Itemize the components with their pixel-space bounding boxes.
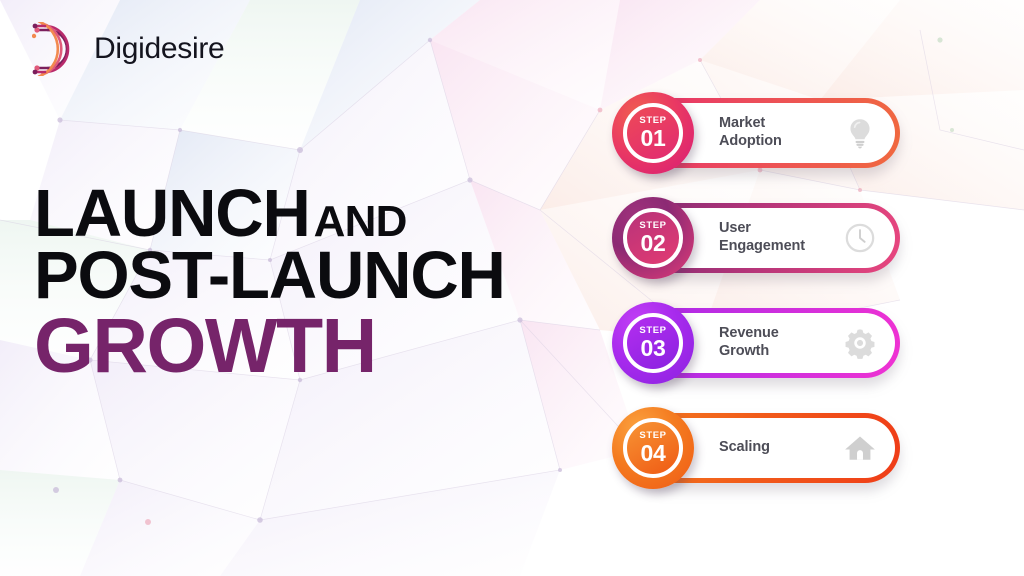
step-title-line-1: Revenue xyxy=(719,325,843,343)
steps-list: Market Adoption STEP 01 xyxy=(612,92,912,512)
step-title-line-1: Scaling xyxy=(719,439,843,457)
step-badge-01: STEP 01 xyxy=(612,92,694,174)
badge-number: 04 xyxy=(641,442,666,465)
headline-post-launch: POST-LAUNCH xyxy=(34,245,505,307)
slide-canvas: Digidesire LAUNCH AND POST-LAUNCH GROWTH… xyxy=(0,0,1024,576)
headline-line-1: LAUNCH AND xyxy=(34,183,505,245)
step-title-line-2: Engagement xyxy=(719,238,843,256)
gear-icon xyxy=(843,326,877,360)
step-item-01[interactable]: Market Adoption STEP 01 xyxy=(612,92,912,182)
step-title-line-2: Growth xyxy=(719,343,843,361)
badge-ring: STEP 03 xyxy=(623,313,683,373)
step-item-02[interactable]: User Engagement STEP 02 xyxy=(612,197,912,287)
badge-ring: STEP 01 xyxy=(623,103,683,163)
step-item-03[interactable]: Revenue Growth STEP 03 xyxy=(612,302,912,392)
step-badge-04: STEP 04 xyxy=(612,407,694,489)
headline-launch: LAUNCH xyxy=(34,183,310,245)
badge-ring: STEP 04 xyxy=(623,418,683,478)
step-title-04: Scaling xyxy=(719,439,843,457)
brand-logo[interactable]: Digidesire xyxy=(32,22,224,76)
step-title-01: Market Adoption xyxy=(719,115,843,150)
brand-name: Digidesire xyxy=(94,34,224,64)
clock-icon xyxy=(843,221,877,255)
digidesire-d-mark-icon xyxy=(32,22,84,76)
step-title-line-1: Market xyxy=(719,115,843,133)
step-title-line-1: User xyxy=(719,220,843,238)
badge-number: 02 xyxy=(641,232,666,255)
badge-ring: STEP 02 xyxy=(623,208,683,268)
headline-line-2: POST-LAUNCH xyxy=(34,245,505,307)
badge-number: 01 xyxy=(641,127,666,150)
headline-and: AND xyxy=(314,202,407,242)
step-badge-03: STEP 03 xyxy=(612,302,694,384)
badge-number: 03 xyxy=(641,337,666,360)
home-icon xyxy=(843,431,877,465)
page-title: LAUNCH AND POST-LAUNCH GROWTH xyxy=(34,183,505,385)
step-title-03: Revenue Growth xyxy=(719,325,843,360)
step-item-04[interactable]: Scaling STEP 04 xyxy=(612,407,912,497)
headline-growth: GROWTH xyxy=(34,308,505,385)
step-badge-02: STEP 02 xyxy=(612,197,694,279)
lightbulb-icon xyxy=(843,116,877,150)
step-title-02: User Engagement xyxy=(719,220,843,255)
step-title-line-2: Adoption xyxy=(719,133,843,151)
